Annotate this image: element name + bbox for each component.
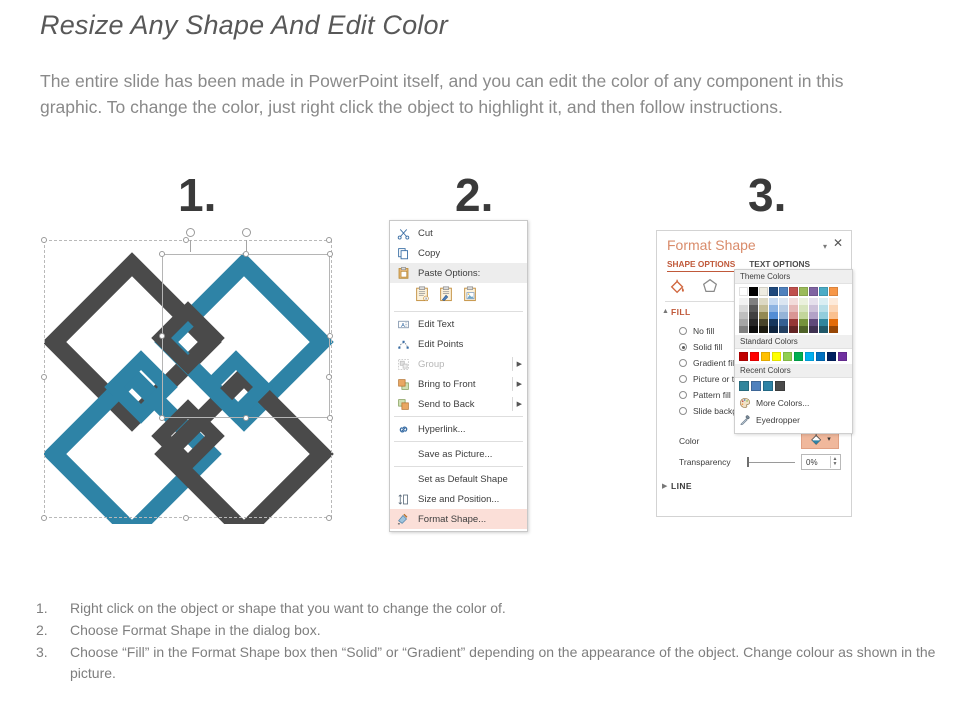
standard-color-swatch[interactable] xyxy=(750,352,759,361)
list-item-text: Choose “Fill” in the Format Shape box th… xyxy=(70,642,936,684)
menu-label: Hyperlink... xyxy=(418,424,466,435)
standard-color-swatch[interactable] xyxy=(761,352,770,361)
theme-color-tint-swatch[interactable] xyxy=(789,319,798,326)
menu-item-cut[interactable]: Cut xyxy=(390,223,527,243)
standard-color-swatch[interactable] xyxy=(838,352,847,361)
standard-color-swatch[interactable] xyxy=(739,352,748,361)
list-item-index: 2. xyxy=(36,620,70,641)
chevron-down-icon[interactable]: ▾ xyxy=(827,435,831,443)
theme-color-column[interactable] xyxy=(819,287,828,333)
theme-color-tint-swatch[interactable] xyxy=(829,298,838,305)
menu-separator xyxy=(394,416,523,417)
eyedropper-item[interactable]: Eyedropper xyxy=(735,411,852,428)
slide-canvas: Resize Any Shape And Edit Color The enti… xyxy=(0,0,960,720)
theme-color-tint-swatch[interactable] xyxy=(809,312,818,319)
theme-color-tint-swatch[interactable] xyxy=(739,312,748,319)
menu-divider xyxy=(512,377,513,391)
theme-color-tint-swatch[interactable] xyxy=(759,312,768,319)
size-position-icon xyxy=(395,491,411,507)
theme-color-tint-swatch[interactable] xyxy=(819,298,828,305)
theme-color-tint-swatch[interactable] xyxy=(779,319,788,326)
paste-picture-icon[interactable] xyxy=(462,285,478,307)
svg-text:A: A xyxy=(401,322,405,328)
theme-color-column[interactable] xyxy=(769,287,778,333)
theme-color-tint-swatch[interactable] xyxy=(779,298,788,305)
recent-colors-row[interactable] xyxy=(735,378,852,394)
resize-handle-se[interactable] xyxy=(326,515,332,521)
rotation-stem-inner xyxy=(246,240,247,252)
menu-label: Paste Options: xyxy=(418,268,480,279)
menu-item-format-shape[interactable]: Format Shape... xyxy=(390,509,527,529)
tab-shape-options[interactable]: SHAPE OPTIONS xyxy=(667,259,735,269)
theme-color-tint-swatch[interactable] xyxy=(749,319,758,326)
paste-icon xyxy=(395,265,411,281)
menu-item-save-as-picture[interactable]: Save as Picture... xyxy=(390,444,527,464)
theme-color-tint-swatch[interactable] xyxy=(789,305,798,312)
theme-color-tint-swatch[interactable] xyxy=(819,312,828,319)
theme-color-tint-swatch[interactable] xyxy=(749,305,758,312)
menu-item-paste-options[interactable]: Paste Options: xyxy=(390,263,527,283)
menu-label: Group xyxy=(418,359,444,370)
paste-keep-source-icon[interactable]: a xyxy=(414,285,430,307)
theme-color-tint-swatch[interactable] xyxy=(739,326,748,333)
more-colors-item[interactable]: More Colors... xyxy=(735,394,852,411)
fill-bucket-icon xyxy=(809,432,825,446)
theme-color-tint-swatch[interactable] xyxy=(769,305,778,312)
inner-handle-se[interactable] xyxy=(327,415,333,421)
theme-color-tint-swatch[interactable] xyxy=(759,305,768,312)
transparency-input[interactable]: 0% ▲▼ xyxy=(801,454,841,470)
menu-separator xyxy=(394,441,523,442)
fill-section-collapse-icon[interactable]: ▲ xyxy=(662,308,669,315)
standard-color-swatch[interactable] xyxy=(816,352,825,361)
menu-item-send-to-back[interactable]: Send to Back ▶ xyxy=(390,394,527,414)
dialog-menu-chevron-down-icon[interactable]: ▾ xyxy=(823,242,827,251)
theme-color-tint-swatch[interactable] xyxy=(809,298,818,305)
menu-item-bring-to-front[interactable]: Bring to Front ▶ xyxy=(390,374,527,394)
theme-color-tint-swatch[interactable] xyxy=(739,305,748,312)
standard-color-swatch[interactable] xyxy=(805,352,814,361)
theme-color-tint-swatch[interactable] xyxy=(799,305,808,312)
radio-label: No fill xyxy=(693,326,714,336)
theme-color-column[interactable] xyxy=(829,287,838,333)
menu-item-edit-points[interactable]: Edit Points xyxy=(390,334,527,354)
radio-indicator[interactable] xyxy=(679,375,687,383)
theme-color-column[interactable] xyxy=(789,287,798,333)
color-picker-flyout[interactable]: Theme Colors Standard Colors Recent Colo… xyxy=(734,269,853,434)
menu-label: Size and Position... xyxy=(418,494,499,505)
theme-color-tint-swatch[interactable] xyxy=(739,298,748,305)
rotation-stem-outer xyxy=(190,240,191,252)
radio-indicator[interactable] xyxy=(679,407,687,415)
recent-color-swatch[interactable] xyxy=(763,381,773,391)
line-section-expand-icon[interactable]: ▶ xyxy=(662,482,667,490)
inner-handle-e[interactable] xyxy=(327,333,333,339)
page-subtitle: The entire slide has been made in PowerP… xyxy=(40,68,870,120)
resize-handle-w[interactable] xyxy=(41,374,47,380)
menu-item-edit-text[interactable]: A Edit Text xyxy=(390,314,527,334)
standard-color-swatch[interactable] xyxy=(794,352,803,361)
menu-label: Format Shape... xyxy=(418,514,486,525)
recent-colors-header: Recent Colors xyxy=(735,364,852,378)
pentagon-effects-icon[interactable] xyxy=(701,277,719,300)
list-item: 1. Right click on the object or shape th… xyxy=(36,598,936,619)
inner-handle-s[interactable] xyxy=(243,415,249,421)
list-item: 3. Choose “Fill” in the Format Shape box… xyxy=(36,642,936,684)
color-label: Color xyxy=(679,436,699,446)
standard-color-swatch[interactable] xyxy=(827,352,836,361)
page-title: Resize Any Shape And Edit Color xyxy=(40,10,448,41)
menu-item-hyperlink[interactable]: Hyperlink... xyxy=(390,419,527,439)
menu-separator xyxy=(394,466,523,467)
eyedropper-icon xyxy=(739,414,751,426)
theme-color-tint-swatch[interactable] xyxy=(749,326,758,333)
transparency-label: Transparency xyxy=(679,457,731,467)
tab-text-options[interactable]: TEXT OPTIONS xyxy=(749,259,810,269)
theme-color-tint-swatch[interactable] xyxy=(809,319,818,326)
standard-color-swatch[interactable] xyxy=(772,352,781,361)
theme-color-tint-swatch[interactable] xyxy=(799,312,808,319)
transparency-value: 0% xyxy=(806,458,818,467)
standard-color-swatch[interactable] xyxy=(783,352,792,361)
step-number-2: 2. xyxy=(455,172,493,218)
theme-color-swatch[interactable] xyxy=(819,287,828,296)
theme-color-swatch[interactable] xyxy=(779,287,788,296)
theme-color-swatch[interactable] xyxy=(769,287,778,296)
menu-label: Copy xyxy=(418,248,440,259)
theme-color-swatch[interactable] xyxy=(799,287,808,296)
theme-color-tint-swatch[interactable] xyxy=(789,312,798,319)
theme-colors-grid[interactable] xyxy=(735,284,852,335)
theme-color-tint-swatch[interactable] xyxy=(819,319,828,326)
menu-item-copy[interactable]: Copy xyxy=(390,243,527,263)
inner-handle-nw[interactable] xyxy=(159,251,165,257)
theme-color-tint-swatch[interactable] xyxy=(779,305,788,312)
radio-indicator[interactable] xyxy=(679,391,687,399)
theme-color-tint-swatch[interactable] xyxy=(769,319,778,326)
menu-label: Send to Back xyxy=(418,399,475,410)
theme-color-tint-swatch[interactable] xyxy=(739,319,748,326)
theme-color-tint-swatch[interactable] xyxy=(799,298,808,305)
shape-sub-selection-box[interactable] xyxy=(162,254,330,418)
theme-color-tint-swatch[interactable] xyxy=(809,326,818,333)
menu-item-size-and-position[interactable]: Size and Position... xyxy=(390,489,527,509)
close-icon[interactable]: ✕ xyxy=(833,237,843,249)
chevron-right-icon: ▶ xyxy=(517,380,522,388)
selected-shape-panel[interactable] xyxy=(44,232,334,524)
theme-color-tint-swatch[interactable] xyxy=(759,326,768,333)
svg-text:a: a xyxy=(425,297,427,301)
theme-color-tint-swatch[interactable] xyxy=(799,319,808,326)
line-section-header[interactable]: LINE xyxy=(671,481,692,491)
recent-color-swatch[interactable] xyxy=(775,381,785,391)
theme-color-tint-swatch[interactable] xyxy=(829,326,838,333)
theme-color-tint-swatch[interactable] xyxy=(769,298,778,305)
theme-color-swatch[interactable] xyxy=(829,287,838,296)
menu-label: Cut xyxy=(418,228,433,239)
radio-indicator-selected[interactable] xyxy=(679,343,687,351)
theme-color-column[interactable] xyxy=(779,287,788,333)
standard-colors-row[interactable] xyxy=(735,349,852,364)
resize-handle-n[interactable] xyxy=(183,237,189,243)
step-number-3: 3. xyxy=(748,172,786,218)
resize-handle-e[interactable] xyxy=(326,374,332,380)
theme-color-column[interactable] xyxy=(759,287,768,333)
list-item-index: 1. xyxy=(36,598,70,619)
theme-color-swatch[interactable] xyxy=(789,287,798,296)
transparency-slider-track[interactable] xyxy=(749,462,795,463)
radio-label: Gradient fill xyxy=(693,358,736,368)
theme-color-tint-swatch[interactable] xyxy=(789,326,798,333)
resize-handle-sw[interactable] xyxy=(41,515,47,521)
menu-item-group[interactable]: Group ▶ xyxy=(390,354,527,374)
standard-colors-header: Standard Colors xyxy=(735,335,852,349)
edit-points-icon xyxy=(395,336,411,352)
menu-separator xyxy=(394,311,523,312)
menu-label: Bring to Front xyxy=(418,379,476,390)
theme-color-tint-swatch[interactable] xyxy=(829,312,838,319)
resize-handle-s[interactable] xyxy=(183,515,189,521)
context-menu[interactable]: Cut Copy Paste Options: xyxy=(389,220,528,532)
transparency-stepper[interactable]: ▲▼ xyxy=(830,456,839,468)
resize-handle-ne[interactable] xyxy=(326,237,332,243)
theme-color-column[interactable] xyxy=(809,287,818,333)
theme-color-tint-swatch[interactable] xyxy=(779,312,788,319)
radio-label: Solid fill xyxy=(693,342,722,352)
theme-color-tint-swatch[interactable] xyxy=(799,326,808,333)
fill-section-header[interactable]: FILL xyxy=(671,307,691,317)
more-colors-label: More Colors... xyxy=(756,398,809,408)
dialog-title: Format Shape xyxy=(667,237,756,253)
paste-options-icon-row[interactable]: a xyxy=(390,283,527,309)
theme-color-tint-swatch[interactable] xyxy=(769,326,778,333)
inner-handle-w[interactable] xyxy=(159,333,165,339)
instruction-list: 1. Right click on the object or shape th… xyxy=(36,598,936,685)
rotation-handle-inner[interactable] xyxy=(242,228,251,237)
menu-divider xyxy=(512,397,513,411)
theme-color-tint-swatch[interactable] xyxy=(829,319,838,326)
palette-icon xyxy=(739,397,751,409)
format-shape-icon xyxy=(395,511,411,527)
list-item-text: Right click on the object or shape that … xyxy=(70,598,936,619)
list-item: 2. Choose Format Shape in the dialog box… xyxy=(36,620,936,641)
copy-icon xyxy=(395,245,411,261)
inner-handle-ne[interactable] xyxy=(327,251,333,257)
eyedropper-label: Eyedropper xyxy=(756,415,800,425)
menu-label: Save as Picture... xyxy=(418,449,492,460)
step-number-1: 1. xyxy=(178,172,216,218)
resize-handle-nw[interactable] xyxy=(41,237,47,243)
theme-color-column[interactable] xyxy=(749,287,758,333)
menu-item-set-default-shape[interactable]: Set as Default Shape xyxy=(390,469,527,489)
theme-color-swatch[interactable] xyxy=(809,287,818,296)
theme-color-column[interactable] xyxy=(799,287,808,333)
menu-divider xyxy=(512,357,513,371)
theme-color-swatch[interactable] xyxy=(759,287,768,296)
format-shape-dialog[interactable]: Format Shape ▾ ✕ SHAPE OPTIONS TEXT OPTI… xyxy=(656,230,852,517)
theme-colors-header: Theme Colors xyxy=(735,270,852,284)
theme-color-tint-swatch[interactable] xyxy=(819,305,828,312)
theme-color-tint-swatch[interactable] xyxy=(819,326,828,333)
theme-color-column[interactable] xyxy=(739,287,748,333)
scissors-icon xyxy=(395,225,411,241)
theme-color-swatch[interactable] xyxy=(749,287,758,296)
chevron-right-icon: ▶ xyxy=(517,360,522,368)
radio-indicator[interactable] xyxy=(679,327,687,335)
theme-color-swatch[interactable] xyxy=(739,287,748,296)
theme-color-tint-swatch[interactable] xyxy=(759,298,768,305)
chevron-right-icon: ▶ xyxy=(517,400,522,408)
edit-text-icon: A xyxy=(395,316,411,332)
menu-label: Edit Text xyxy=(418,319,454,330)
theme-color-tint-swatch[interactable] xyxy=(829,305,838,312)
recent-color-swatch[interactable] xyxy=(739,381,749,391)
bring-front-icon xyxy=(395,376,411,392)
paste-destination-theme-icon[interactable] xyxy=(438,285,454,307)
fill-bucket-icon[interactable] xyxy=(669,277,687,300)
send-back-icon xyxy=(395,396,411,412)
menu-label: Set as Default Shape xyxy=(418,474,508,485)
theme-color-tint-swatch[interactable] xyxy=(759,319,768,326)
theme-color-tint-swatch[interactable] xyxy=(789,298,798,305)
dialog-tabs[interactable]: SHAPE OPTIONS TEXT OPTIONS xyxy=(667,259,810,269)
theme-color-tint-swatch[interactable] xyxy=(749,298,758,305)
radio-label: Pattern fill xyxy=(693,390,731,400)
theme-color-tint-swatch[interactable] xyxy=(779,326,788,333)
theme-color-tint-swatch[interactable] xyxy=(769,312,778,319)
radio-indicator[interactable] xyxy=(679,359,687,367)
rotation-handle-outer[interactable] xyxy=(186,228,195,237)
inner-handle-sw[interactable] xyxy=(159,415,165,421)
group-icon xyxy=(395,356,411,372)
hyperlink-icon xyxy=(395,421,411,437)
recent-color-swatch[interactable] xyxy=(751,381,761,391)
list-item-text: Choose Format Shape in the dialog box. xyxy=(70,620,936,641)
menu-label: Edit Points xyxy=(418,339,463,350)
theme-color-tint-swatch[interactable] xyxy=(809,305,818,312)
theme-color-tint-swatch[interactable] xyxy=(749,312,758,319)
list-item-index: 3. xyxy=(36,642,70,684)
